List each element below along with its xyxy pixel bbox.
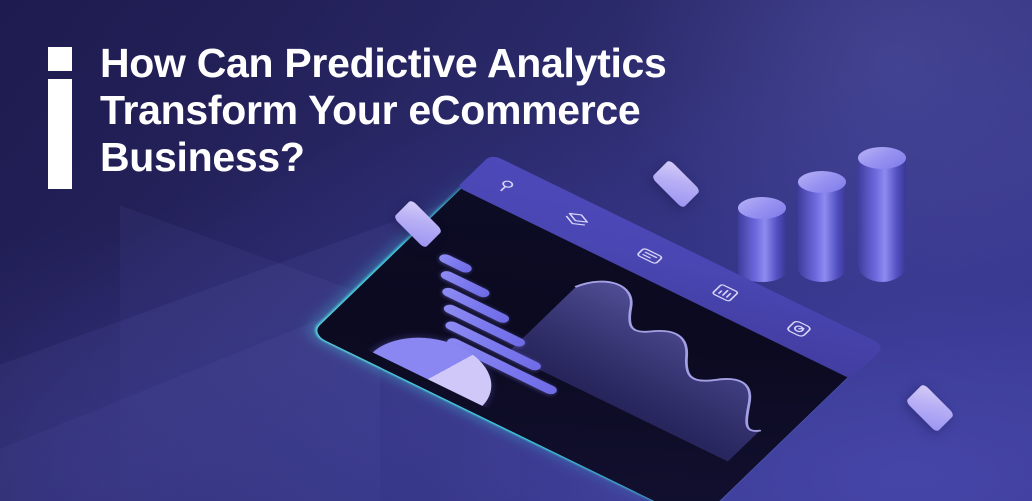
- cube-face: [905, 383, 954, 432]
- page-title-line-2: Transform Your eCommerce: [100, 87, 808, 134]
- page-title-line-1: How Can Predictive Analytics: [100, 40, 808, 87]
- decor-cube-right: [908, 386, 952, 430]
- cylinder-bar: [798, 182, 846, 282]
- accent-stem: [48, 79, 72, 189]
- decor-cube-left: [396, 202, 440, 246]
- decor-cube-top: [654, 162, 698, 206]
- cylinder-body: [798, 182, 846, 282]
- cylinder-bar: [738, 208, 786, 282]
- cube-face: [651, 159, 700, 208]
- cylinder-body: [738, 208, 786, 282]
- cylinder-body: [858, 158, 906, 282]
- cylinder-bar: [858, 158, 906, 282]
- accent-i-mark: [48, 47, 72, 189]
- analytics-illustration: [318, 140, 1018, 500]
- accent-dot: [48, 47, 72, 71]
- cube-face: [393, 199, 442, 248]
- cylinder-cap: [798, 171, 846, 193]
- cylinder-bar-chart: [738, 162, 918, 282]
- banner-canvas: How Can Predictive Analytics Transform Y…: [0, 0, 1032, 501]
- cylinder-cap: [738, 197, 786, 219]
- cylinder-cap: [858, 147, 906, 169]
